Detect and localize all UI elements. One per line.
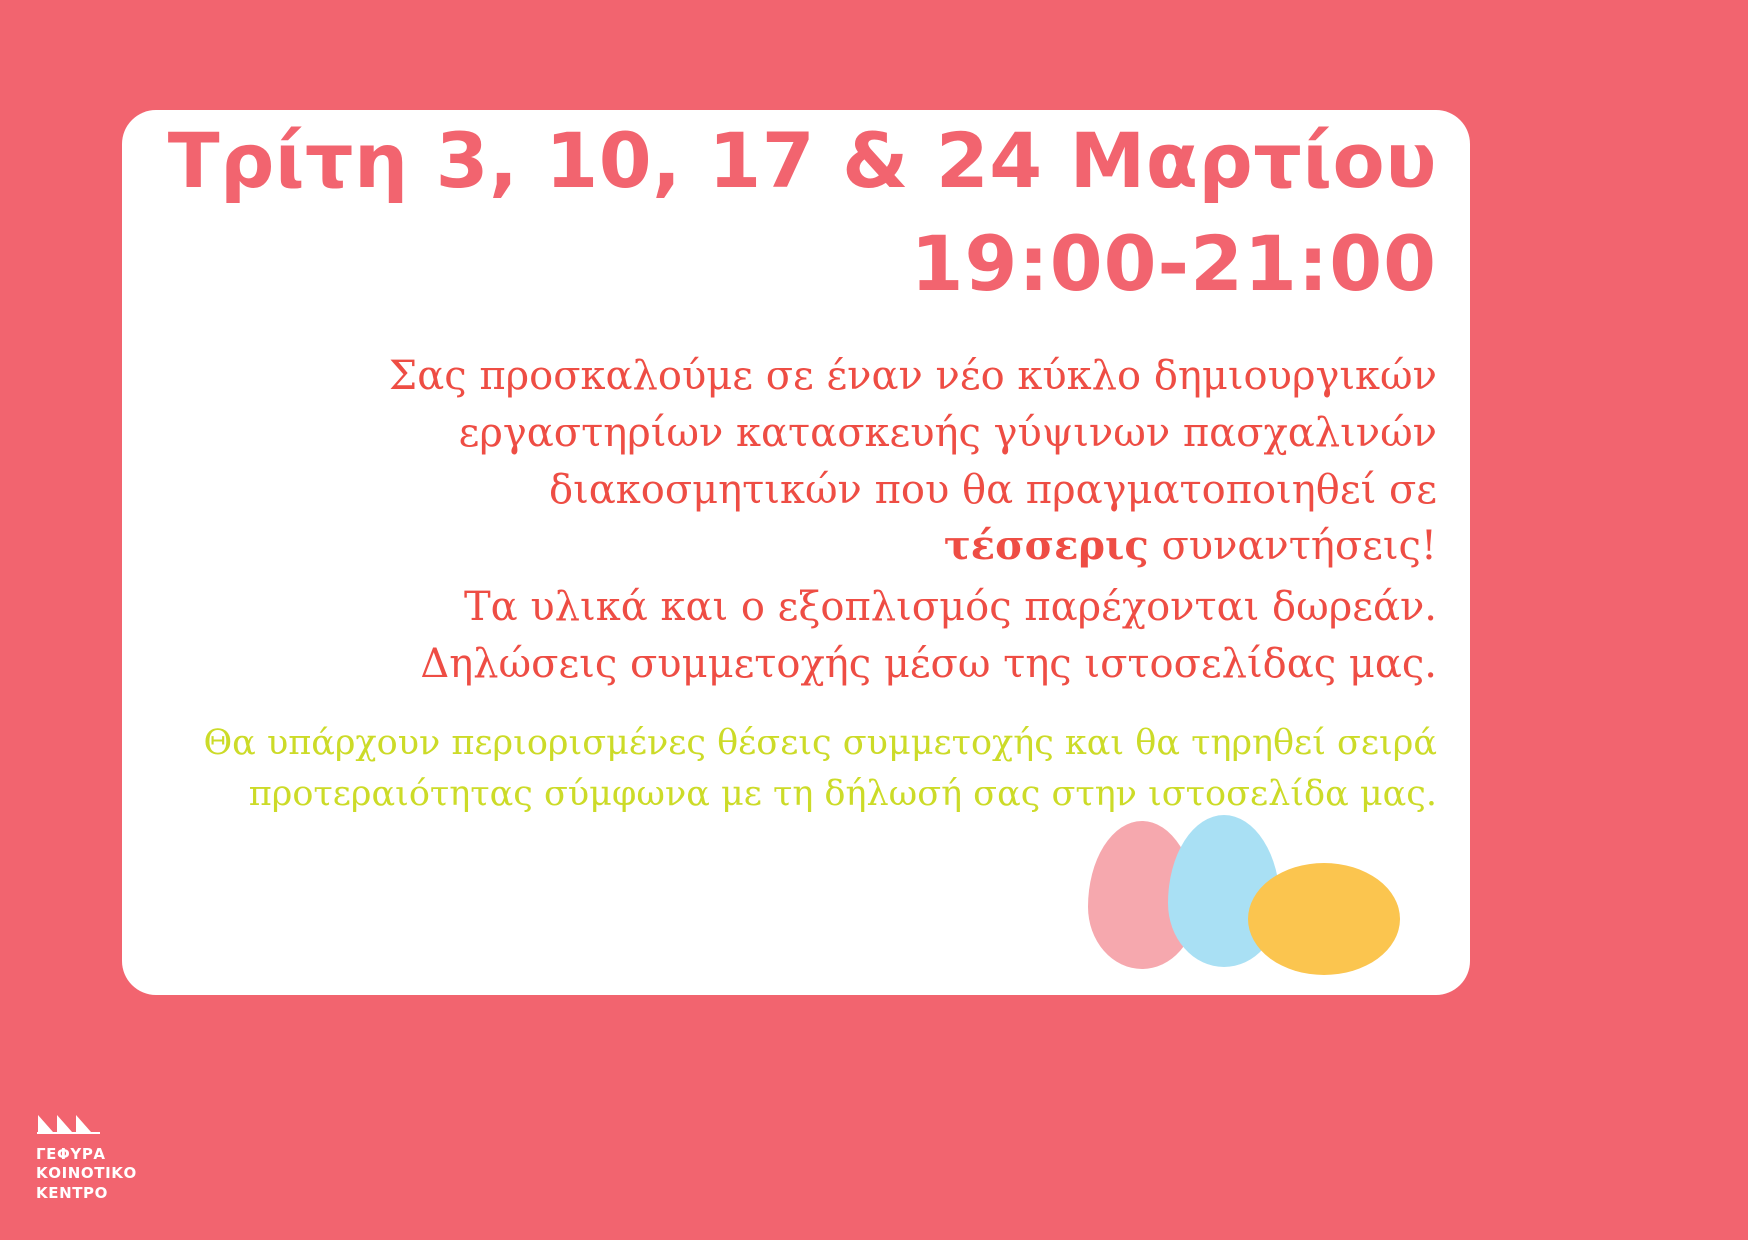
egg-yellow-icon	[1248, 863, 1400, 975]
body-copy: Σας προσκαλούμε σε έναν νέο κύκλο δημιου…	[182, 348, 1437, 693]
organization-logo: ΓΕΦΥΡΑ ΚΟΙΝΟΤΙΚΟ ΚΕΝΤΡΟ	[36, 1106, 256, 1204]
logo-wordmark: ΓΕΦΥΡΑ ΚΟΙΝΟΤΙΚΟ ΚΕΝΤΡΟ	[36, 1145, 256, 1204]
heading-block: Τρίτη 3, 10, 17 & 24 Μαρτίου 19:00-21:00	[162, 118, 1437, 306]
body-line-4-rest: συναντήσεις!	[1161, 523, 1437, 569]
poster-canvas: Τρίτη 3, 10, 17 & 24 Μαρτίου 19:00-21:00…	[0, 0, 1748, 1240]
footnote-line-1: Θα υπάρχουν περιορισμένες θέσεις συμμετο…	[182, 718, 1437, 769]
logo-line-1: ΓΕΦΥΡΑ	[36, 1145, 256, 1165]
logo-line-3: ΚΕΝΤΡΟ	[36, 1184, 256, 1204]
body-line-4: τέσσερις συναντήσεις!	[182, 518, 1437, 575]
body-line-6: Δηλώσεις συμμετοχής μέσω της ιστοσελίδας…	[182, 636, 1437, 693]
easter-eggs-decoration	[1068, 813, 1408, 995]
footnote-line-2: προτεραιότητας σύμφωνα με τη δήλωσή σας …	[182, 769, 1437, 820]
body-line-2: εργαστηρίων κατασκευής γύψινων πασχαλινώ…	[182, 405, 1437, 462]
event-dates-heading: Τρίτη 3, 10, 17 & 24 Μαρτίου	[162, 118, 1437, 203]
content-card: Τρίτη 3, 10, 17 & 24 Μαρτίου 19:00-21:00…	[122, 110, 1470, 995]
gefyra-logo-mark-icon	[36, 1106, 256, 1138]
footnote: Θα υπάρχουν περιορισμένες θέσεις συμμετο…	[182, 718, 1437, 820]
body-line-5: Τα υλικά και ο εξοπλισμός παρέχονται δωρ…	[182, 579, 1437, 636]
body-emphasis: τέσσερις	[944, 522, 1149, 569]
body-line-3: διακοσμητικών που θα πραγματοποιηθεί σε	[182, 462, 1437, 519]
logo-line-2: ΚΟΙΝΟΤΙΚΟ	[36, 1164, 256, 1184]
event-time-heading: 19:00-21:00	[162, 221, 1437, 306]
body-line-1: Σας προσκαλούμε σε έναν νέο κύκλο δημιου…	[182, 348, 1437, 405]
